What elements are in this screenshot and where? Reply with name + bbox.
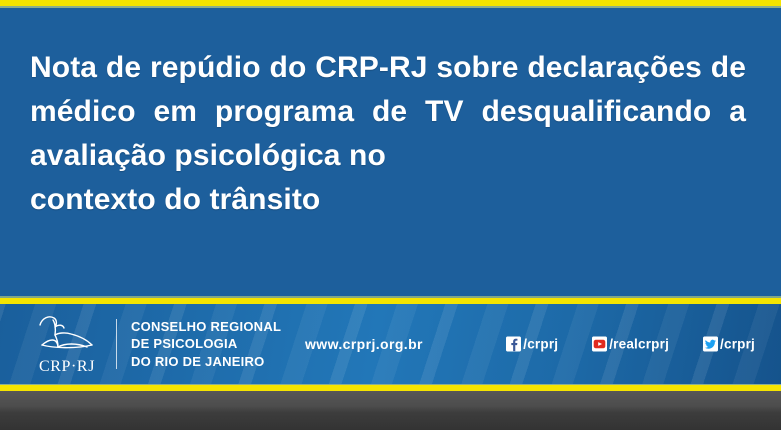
org-name-line-2: DE PSICOLOGIA [131, 335, 281, 353]
footer-content: CRP·RJ CONSELHO REGIONAL DE PSICOLOGIA D… [0, 304, 781, 384]
youtube-handle: /realcrprj [609, 337, 669, 352]
org-name-line-3: DO RIO DE JANEIRO [131, 353, 281, 371]
crp-rj-announcement-banner: Nota de repúdio do CRP-RJ sobre declaraç… [0, 0, 781, 430]
social-links: /crprj /realcrprj [506, 337, 755, 352]
page-title-body: Nota de repúdio do CRP-RJ sobre declaraç… [30, 51, 746, 172]
bottom-grey-strip [0, 391, 781, 430]
social-link-facebook[interactable]: /crprj [506, 337, 558, 352]
page-title: Nota de repúdio do CRP-RJ sobre declaraç… [30, 46, 746, 222]
logo-divider [116, 319, 117, 369]
social-link-youtube[interactable]: /realcrprj [592, 337, 669, 352]
youtube-icon [592, 337, 607, 352]
facebook-icon [506, 337, 521, 352]
page-title-last-line: contexto do trânsito [30, 178, 746, 222]
organization-name: CONSELHO REGIONAL DE PSICOLOGIA DO RIO D… [131, 318, 281, 371]
facebook-handle: /crprj [523, 337, 558, 352]
headline-panel: Nota de repúdio do CRP-RJ sobre declaraç… [0, 8, 781, 296]
footer-band: CRP·RJ CONSELHO REGIONAL DE PSICOLOGIA D… [0, 304, 781, 384]
social-link-twitter[interactable]: /crprj [703, 337, 755, 352]
org-name-line-1: CONSELHO REGIONAL [131, 318, 281, 336]
website-url[interactable]: www.crprj.org.br [305, 336, 423, 352]
brand-logo-block[interactable]: CRP·RJ CONSELHO REGIONAL DE PSICOLOGIA D… [28, 310, 281, 378]
twitter-handle: /crprj [720, 337, 755, 352]
crp-rj-bird-book-logo-icon: CRP·RJ [28, 312, 106, 376]
logo-wordmark: CRP·RJ [39, 358, 95, 375]
twitter-icon [703, 337, 718, 352]
